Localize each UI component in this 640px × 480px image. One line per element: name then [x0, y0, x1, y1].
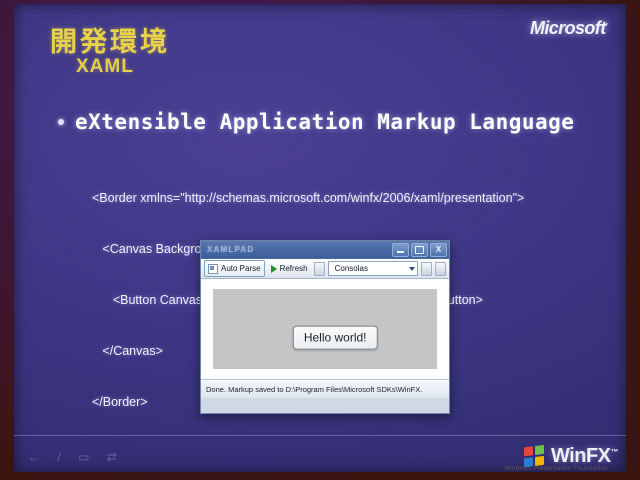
- code-line: <Border xmlns="http://schemas.microsoft.…: [92, 190, 524, 207]
- font-combobox-value: Consolas: [335, 264, 368, 273]
- minimize-icon: [397, 251, 404, 253]
- presentation-slide: 開発環境 XAML Microsoft· eXtensible Applicat…: [14, 4, 626, 472]
- bullet-item-label: eXtensible Application Markup Language: [75, 110, 574, 134]
- zoom-in-icon[interactable]: [421, 262, 432, 276]
- checkbox-icon: [208, 264, 218, 274]
- xaml-canvas: Hello world!: [213, 289, 437, 369]
- minimize-button[interactable]: [392, 243, 409, 257]
- preview-pane: Hello world!: [201, 279, 449, 380]
- window-title: XAMLPAD: [207, 245, 254, 254]
- chevron-down-icon[interactable]: [409, 267, 415, 271]
- slide-divider: [14, 435, 626, 436]
- font-combobox[interactable]: Consolas: [328, 261, 418, 276]
- close-button[interactable]: X: [430, 243, 447, 257]
- window-controls: X: [392, 243, 447, 257]
- microsoft-logo: Microsoft·: [530, 18, 608, 39]
- status-bar: Done. Markup saved to D:\Program Files\M…: [201, 380, 449, 398]
- maximize-icon: [415, 246, 424, 254]
- bullet-item: eXtensible Application Markup Language: [58, 110, 574, 134]
- maximize-button[interactable]: [411, 243, 428, 257]
- refresh-label: Refresh: [280, 264, 308, 273]
- auto-parse-label: Auto Parse: [221, 264, 261, 273]
- page-title: 開発環境: [50, 20, 170, 59]
- xamlpad-window: XAMLPAD X Auto Parse Refresh: [200, 240, 450, 414]
- slide-footer-marks: ← / ▭ ⇄: [28, 450, 124, 464]
- windows-flag-icon: [524, 445, 546, 469]
- page-icon[interactable]: [314, 262, 325, 276]
- zoom-out-icon[interactable]: [435, 262, 446, 276]
- play-icon: [271, 265, 277, 273]
- winfx-subtitle: Windows Presentation Foundation: [504, 466, 608, 472]
- projector-photo: 開発環境 XAML Microsoft· eXtensible Applicat…: [0, 0, 640, 480]
- winfx-tm: ™: [611, 447, 619, 456]
- hello-world-button[interactable]: Hello world!: [293, 326, 378, 350]
- winfx-label: WinFX: [551, 445, 611, 467]
- window-title-bar[interactable]: XAMLPAD X: [201, 241, 449, 259]
- microsoft-logo-text: Microsoft: [530, 18, 606, 38]
- window-toolbar: Auto Parse Refresh Consolas: [201, 259, 449, 279]
- status-text: Done. Markup saved to D:\Program Files\M…: [206, 385, 422, 394]
- refresh-button[interactable]: Refresh: [268, 261, 311, 276]
- auto-parse-checkbox[interactable]: Auto Parse: [204, 260, 265, 277]
- bullet-dot-icon: [58, 119, 64, 125]
- page-subtitle: XAML: [76, 56, 134, 78]
- microsoft-logo-tm: ·: [606, 19, 608, 29]
- winfx-logo-text: WinFX™: [551, 445, 618, 468]
- winfx-logo: WinFX™ Windows Presentation Foundation: [524, 445, 618, 468]
